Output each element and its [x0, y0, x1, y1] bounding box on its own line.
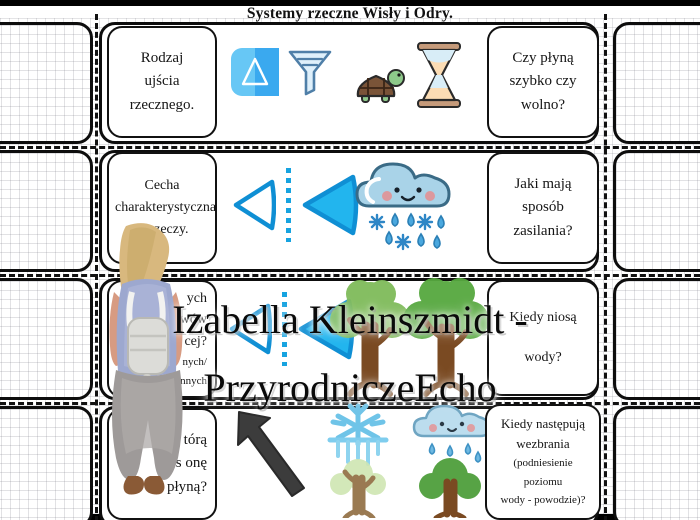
page-title: Systemy rzeczne Wisły i Odry. [0, 5, 700, 23]
card-line: wody - powodzie)? [493, 491, 593, 510]
card-line: Kiedy następują [493, 414, 593, 434]
card-line: wezbrania [493, 434, 593, 454]
card-line: szybko czy [495, 70, 591, 93]
symmetry-triangles-icon-row2 [232, 168, 359, 242]
dashed-divider-right [604, 14, 607, 520]
card-line: ujścia [115, 70, 209, 93]
card-line: rzecznego. [115, 94, 209, 117]
slide-canvas: Systemy rzeczne Wisły i Odry. Rodzaj ujś… [0, 0, 700, 520]
symmetry-axis-icon [286, 168, 291, 242]
triangle-left-icon [232, 172, 276, 238]
icon-delta-square [231, 48, 279, 101]
card-line: Czy płyną [495, 47, 591, 70]
overlay-author-line1: Izabella Kleinszmidt - [0, 296, 700, 343]
card-line: Jaki mają [495, 173, 591, 196]
card-line: zasilania? [495, 220, 591, 243]
question-card-kiedy-wezbrania[interactable]: Kiedy następują wezbrania (podniesienie … [485, 404, 601, 520]
turtle-icon [352, 62, 408, 113]
card-line: wolno? [495, 94, 591, 117]
card-line: Cecha [115, 175, 209, 197]
grid-cell-left-top [0, 22, 93, 144]
funnel-icon [286, 46, 334, 103]
question-card-sposob-zasilania[interactable]: Jaki mają sposób zasilania? [487, 152, 599, 264]
card-line: charakterystyczna [115, 197, 209, 219]
grid-cell-left-mid1 [0, 150, 93, 272]
dashed-divider-row1 [0, 146, 700, 149]
grid-cell-right-bottom [613, 406, 700, 520]
grid-cell-right-top [613, 22, 700, 144]
overlay-author-line2: PrzyrodniczeEcho [0, 364, 700, 411]
melting-snowflake-tree-icon [308, 400, 408, 520]
card-line: Rodzaj [115, 47, 209, 70]
question-card-rodzaj-ujscia[interactable]: Rodzaj ujścia rzecznego. [107, 26, 217, 138]
card-line: sposób [495, 196, 591, 219]
question-card-czy-plyna-szybko[interactable]: Czy płyną szybko czy wolno? [487, 26, 599, 138]
card-line: (podniesienie poziomu [493, 454, 593, 491]
grid-cell-right-mid1 [613, 150, 700, 272]
grid-cell-left-bottom [0, 406, 93, 520]
rain-snow-cloud-icon [345, 150, 465, 267]
hourglass-icon [412, 42, 466, 113]
